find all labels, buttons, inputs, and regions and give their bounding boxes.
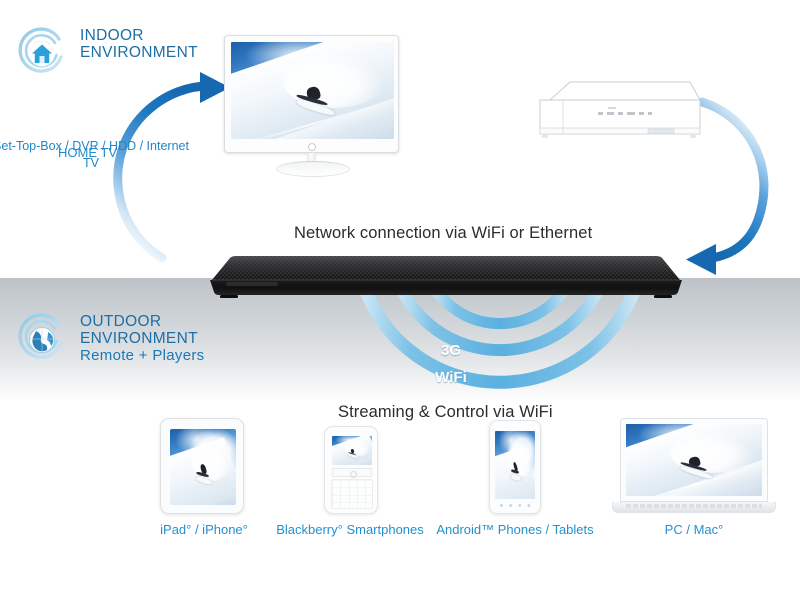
network-connection-heading: Network connection via WiFi or Ethernet: [294, 224, 592, 243]
outdoor-subtitle: Remote + Players: [80, 348, 204, 364]
device-label-android: Android™ Phones / Tablets: [436, 522, 593, 537]
home-tv-node: [224, 35, 404, 185]
blackberry-screen: [332, 436, 372, 465]
indoor-title-line2: ENVIRONMENT: [80, 45, 198, 62]
signal-label-wifi: WiFi: [418, 369, 484, 386]
snowboarder-photo: [626, 424, 762, 496]
indoor-title-line1: INDOOR: [80, 28, 198, 45]
home-swirl-icon: [14, 26, 70, 82]
blackberry-keyboard: [331, 479, 373, 509]
outdoor-title-line2: ENVIRONMENT: [80, 331, 204, 348]
android-body: [489, 420, 541, 514]
tv-stand-base: [276, 161, 350, 177]
blackberry-body: [324, 426, 378, 514]
globe-swirl-icon: [14, 312, 70, 368]
laptop-lid: [620, 418, 768, 502]
set-top-box-node: [528, 76, 708, 186]
device-label-ipad: iPad° / iPhone°: [160, 522, 248, 537]
blackberry-trackpad: [332, 468, 372, 477]
android-soft-keys: [498, 503, 532, 508]
tv-power-indicator: [308, 143, 316, 151]
wireless-signal-arcs-icon: [318, 286, 682, 396]
snowboarder-photo: [170, 429, 236, 505]
tv-screen: [231, 42, 394, 139]
android-screen: [495, 431, 535, 499]
indoor-environment-text: INDOOR ENVIRONMENT: [80, 28, 198, 61]
tv-frame: [224, 35, 399, 153]
device-label-blackberry: Blackberry° Smartphones: [276, 522, 424, 537]
ipad-body: [160, 418, 244, 514]
laptop-screen: [626, 424, 762, 496]
ipad-screen: [170, 429, 236, 505]
snowboarder-photo: [495, 431, 535, 499]
outdoor-title-line1: OUTDOOR: [80, 314, 204, 331]
signal-label-3g: 3G: [428, 342, 474, 359]
network-diagram-canvas: INDOOR ENVIRONMENT OUTDOOR ENVIRONMENT R…: [0, 0, 800, 600]
set-top-box-label: Set-Top-Box / DVR / HDD / Internet TV: [0, 138, 196, 171]
client-devices-row: iPad° / iPhone° Blackberry° Smartphones: [0, 418, 800, 548]
snowboarder-photo: [332, 436, 372, 465]
set-top-box-icon: [528, 76, 708, 156]
device-label-pc-mac: PC / Mac°: [665, 522, 724, 537]
outdoor-environment-text: OUTDOOR ENVIRONMENT Remote + Players: [80, 314, 204, 365]
snowboarder-photo: [231, 42, 394, 139]
media-gateway-device: [196, 252, 696, 300]
laptop-keyboard: [626, 504, 762, 508]
